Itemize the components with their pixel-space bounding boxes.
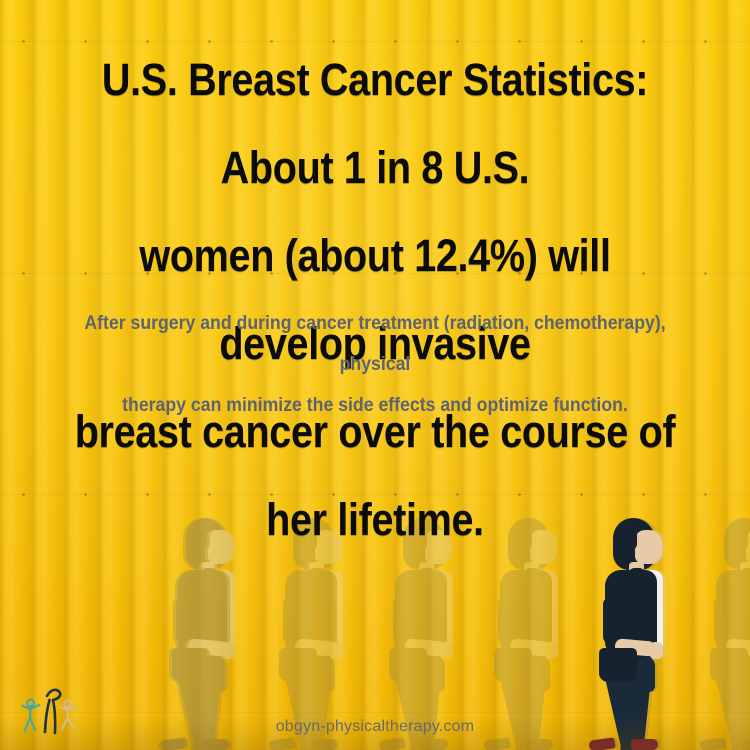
figure-shoulder-bag <box>389 648 427 682</box>
figure-hand <box>329 642 343 659</box>
figure-shoulder-bag <box>710 648 748 682</box>
figure-hand <box>439 642 453 659</box>
site-watermark: obgyn-physicaltherapy.com <box>0 718 750 736</box>
figure-collar <box>522 568 542 584</box>
page-title: U.S. Breast Cancer Statistics: About 1 i… <box>61 36 689 564</box>
figure-collar <box>738 568 750 584</box>
infographic-poster: U.S. Breast Cancer Statistics: About 1 i… <box>0 0 750 750</box>
wall-rivet <box>704 272 707 275</box>
page-subtitle: After surgery and during cancer treatmen… <box>50 303 699 426</box>
figure-collar <box>307 568 327 584</box>
figure-shoulder-bag <box>494 648 532 682</box>
wall-rivet <box>22 272 25 275</box>
figure-shoulder-bag <box>279 648 317 682</box>
figure-hand <box>649 642 663 659</box>
figure-shoulder-bag <box>599 648 637 682</box>
figure-hair-front <box>726 524 748 550</box>
figure-collar <box>627 568 647 584</box>
figure-collar <box>417 568 437 584</box>
figure-collar <box>200 568 220 584</box>
wall-rivet <box>22 40 25 43</box>
wall-rivet <box>704 40 707 43</box>
figure-shoulder-bag <box>172 648 210 682</box>
figure-hand <box>544 642 558 659</box>
figure-hand <box>222 642 236 659</box>
